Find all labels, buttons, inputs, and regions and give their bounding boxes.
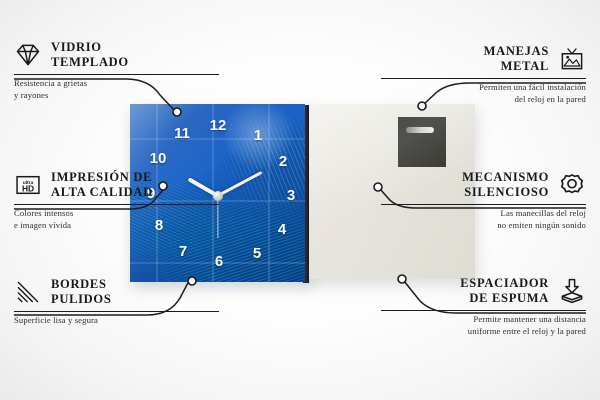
- feature-bordes-pulidos: BORDES PULIDOS Superficie lisa y segura: [14, 277, 219, 327]
- feature-title-line-2: DE ESPUMA: [460, 291, 549, 306]
- feature-header: ESPACIADOR DE ESPUMA: [381, 276, 586, 306]
- feature-title-line-1: VIDRIO: [51, 40, 129, 55]
- infographic-canvas: 12 1 2 3 4 5 6 7 8 9 10 11: [0, 0, 600, 400]
- polished-edge-icon: [14, 278, 42, 306]
- feature-title: MECANISMO SILENCIOSO: [462, 170, 549, 200]
- hanger-slot: [406, 127, 434, 133]
- clock-numeral-7: 7: [172, 244, 194, 259]
- feature-title-line-1: ESPACIADOR: [460, 276, 549, 291]
- clock-numeral-10: 10: [147, 151, 169, 166]
- clock-numeral-4: 4: [271, 222, 293, 237]
- feature-title-line-2: ALTA CALIDAD: [51, 185, 153, 200]
- feature-header: BORDES PULIDOS: [14, 277, 219, 307]
- clock-numeral-1: 1: [247, 128, 269, 143]
- feature-vidrio-templado: VIDRIO TEMPLADO Resistencia a grietas y …: [14, 40, 219, 101]
- feature-description: Superficie lisa y segura: [14, 315, 219, 327]
- feature-header: MANEJAS METAL: [381, 44, 586, 74]
- feature-divider: [381, 204, 586, 205]
- feature-espaciador-de-espuma: ESPACIADOR DE ESPUMA Permite mantener un…: [381, 276, 586, 337]
- feature-description: Colores intensos e imagen vívida: [14, 208, 219, 231]
- feature-title-line-1: IMPRESIÓN DE: [51, 170, 153, 185]
- feature-title-line-1: BORDES: [51, 277, 111, 292]
- feature-title: ESPACIADOR DE ESPUMA: [460, 276, 549, 306]
- clock-numeral-12: 12: [207, 118, 229, 133]
- feature-description: Resistencia a grietas y rayones: [14, 78, 219, 101]
- feature-divider: [14, 74, 219, 75]
- feature-title-line-1: MANEJAS: [484, 44, 549, 59]
- clock-numeral-3: 3: [280, 188, 302, 203]
- metal-hanger-plate-icon: [398, 117, 446, 167]
- ultra-hd-icon: ultra HD: [14, 171, 42, 199]
- feature-title-line-1: MECANISMO: [462, 170, 549, 185]
- feature-title: VIDRIO TEMPLADO: [51, 40, 129, 70]
- clock-numeral-5: 5: [246, 246, 268, 261]
- feature-impresion-alta-calidad: ultra HD IMPRESIÓN DE ALTA CALIDAD Color…: [14, 170, 219, 231]
- feature-divider: [14, 204, 219, 205]
- feature-header: VIDRIO TEMPLADO: [14, 40, 219, 70]
- feature-divider: [381, 78, 586, 79]
- feature-title: IMPRESIÓN DE ALTA CALIDAD: [51, 170, 153, 200]
- feature-divider: [381, 310, 586, 311]
- feature-header: ultra HD IMPRESIÓN DE ALTA CALIDAD: [14, 170, 219, 200]
- feature-title: MANEJAS METAL: [484, 44, 549, 74]
- clock-numeral-11: 11: [171, 126, 193, 141]
- feature-title-line-2: METAL: [484, 59, 549, 74]
- feature-divider: [14, 311, 219, 312]
- feature-description: Permite mantener una distancia uniforme …: [381, 314, 586, 337]
- spacer-layers-icon: [558, 277, 586, 305]
- gear-icon: [558, 171, 586, 199]
- feature-title-line-2: SILENCIOSO: [462, 185, 549, 200]
- feature-description: Las manecillas del reloj no emiten ningú…: [381, 208, 586, 231]
- feature-title: BORDES PULIDOS: [51, 277, 111, 307]
- clock-numeral-2: 2: [272, 154, 294, 169]
- feature-manejas-metal: MANEJAS METAL Permiten una fácil instala…: [381, 44, 586, 105]
- svg-text:HD: HD: [22, 183, 34, 193]
- feature-title-line-2: TEMPLADO: [51, 55, 129, 70]
- picture-hanger-icon: [558, 45, 586, 73]
- feature-description: Permiten una fácil instalación del reloj…: [381, 82, 586, 105]
- clock-numeral-6: 6: [208, 254, 230, 269]
- feature-title-line-2: PULIDOS: [51, 292, 111, 307]
- feature-mecanismo-silencioso: MECANISMO SILENCIOSO Las manecillas del …: [381, 170, 586, 231]
- diamond-icon: [14, 41, 42, 69]
- feature-header: MECANISMO SILENCIOSO: [381, 170, 586, 200]
